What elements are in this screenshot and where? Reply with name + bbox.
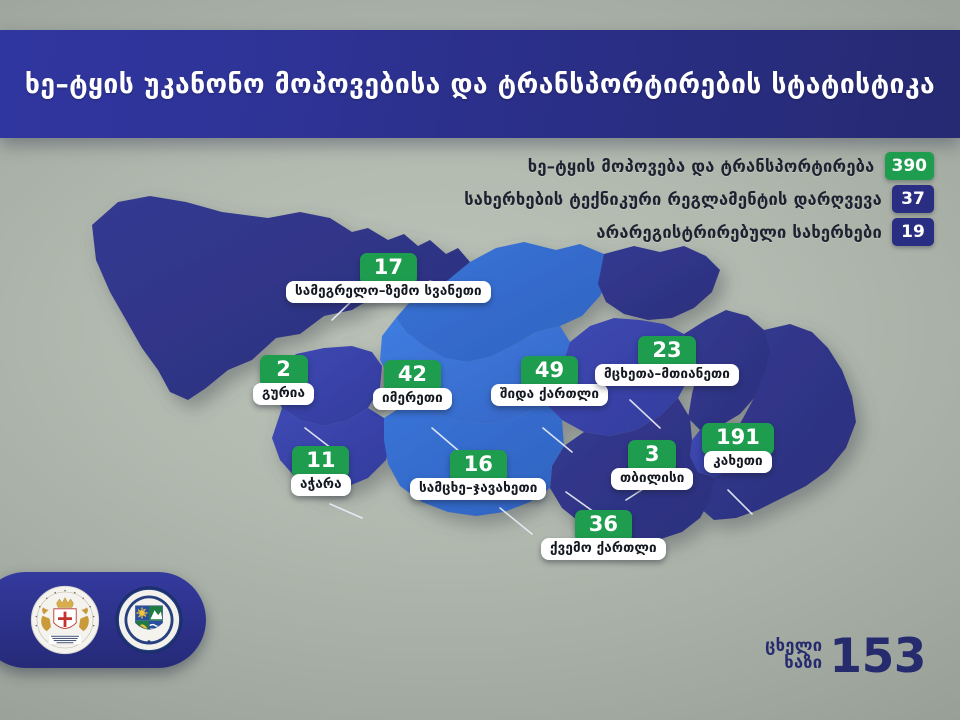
callout-value: 3 (628, 440, 676, 472)
callout-samtskhe-javakheti[interactable]: 16 სამცხე–ჯავახეთი (410, 450, 546, 500)
callout-label: აჭარა (291, 474, 351, 497)
callout-label: შიდა ქართლი (491, 384, 608, 407)
callout-value: 191 (702, 423, 774, 455)
hotline-words: ცხელი ხაზი (765, 638, 822, 674)
hotline: ცხელი ხაზი 153 (765, 635, 926, 678)
supervision-emblem-svg (114, 585, 184, 655)
callout-imereti[interactable]: 42 იმერეთი (373, 360, 452, 410)
callout-value: 42 (384, 360, 441, 392)
callout-mtskheta-mtianeti[interactable]: 23 მცხეთა–მთიანეთი (595, 336, 739, 386)
infographic-canvas: ხე–ტყის უკანონო მოპოვებისა და ტრანსპორტი… (0, 0, 960, 720)
legend-row: არარეგისტრირებული სახერხები 19 (596, 218, 934, 246)
callout-label: იმერეთი (373, 388, 452, 411)
page-title: ხე–ტყის უკანონო მოპოვებისა და ტრანსპორტი… (25, 69, 935, 100)
callout-value: 2 (260, 355, 308, 387)
legend-row: სახერხების ტექნიკური რეგლამენტის დარღვევ… (464, 185, 934, 213)
callout-guria[interactable]: 2 გურია (253, 355, 314, 405)
callout-label: თბილისი (611, 468, 693, 491)
ministry-emblem-svg (30, 585, 100, 655)
callout-label: კახეთი (704, 451, 772, 474)
callout-value: 49 (521, 356, 578, 388)
region-racha-lechkhumi (598, 246, 720, 320)
callout-value: 36 (575, 510, 632, 542)
callout-label: სამეგრელო–ზემო სვანეთი (286, 281, 491, 304)
callout-label: მცხეთა–მთიანეთი (595, 364, 739, 387)
legend: ხე–ტყის მოპოვება და ტრანსპორტირება 390 ს… (464, 152, 934, 246)
logo-pill (0, 572, 206, 668)
callout-shida-kartli[interactable]: 49 შიდა ქართლი (491, 356, 608, 406)
legend-badge-total: 19 (892, 218, 934, 246)
callout-samegrelo-zemo-svaneti[interactable]: 17 სამეგრელო–ზემო სვანეთი (286, 253, 491, 303)
legend-label: ხე–ტყის მოპოვება და ტრანსპორტირება (528, 157, 875, 176)
callout-kvemo-kartli[interactable]: 36 ქვემო ქართლი (541, 510, 666, 560)
legend-row: ხე–ტყის მოპოვება და ტრანსპორტირება 390 (528, 152, 934, 180)
callout-label: სამცხე–ჯავახეთი (410, 478, 546, 501)
legend-label: არარეგისტრირებული სახერხები (596, 223, 882, 242)
hotline-number: 153 (829, 635, 926, 678)
hotline-line2: ხაზი (765, 655, 822, 672)
callout-value: 16 (450, 450, 507, 482)
legend-badge-total: 390 (885, 152, 935, 180)
callout-adjara[interactable]: 11 აჭარა (291, 446, 351, 496)
callout-value: 17 (360, 253, 417, 285)
callout-value: 23 (638, 336, 695, 368)
header-banner: ხე–ტყის უკანონო მოპოვებისა და ტრანსპორტი… (0, 30, 960, 138)
callout-value: 11 (292, 446, 349, 478)
callout-kakheti[interactable]: 191 კახეთი (702, 423, 774, 473)
legend-badge-total: 37 (892, 185, 934, 213)
callout-label: გურია (253, 383, 314, 406)
ministry-of-environment-emblem (30, 585, 100, 655)
callout-tbilisi[interactable]: 3 თბილისი (611, 440, 693, 490)
legend-label: სახერხების ტექნიკური რეგლამენტის დარღვევ… (464, 190, 882, 209)
callout-label: ქვემო ქართლი (541, 538, 666, 561)
environmental-supervision-emblem (114, 585, 184, 655)
